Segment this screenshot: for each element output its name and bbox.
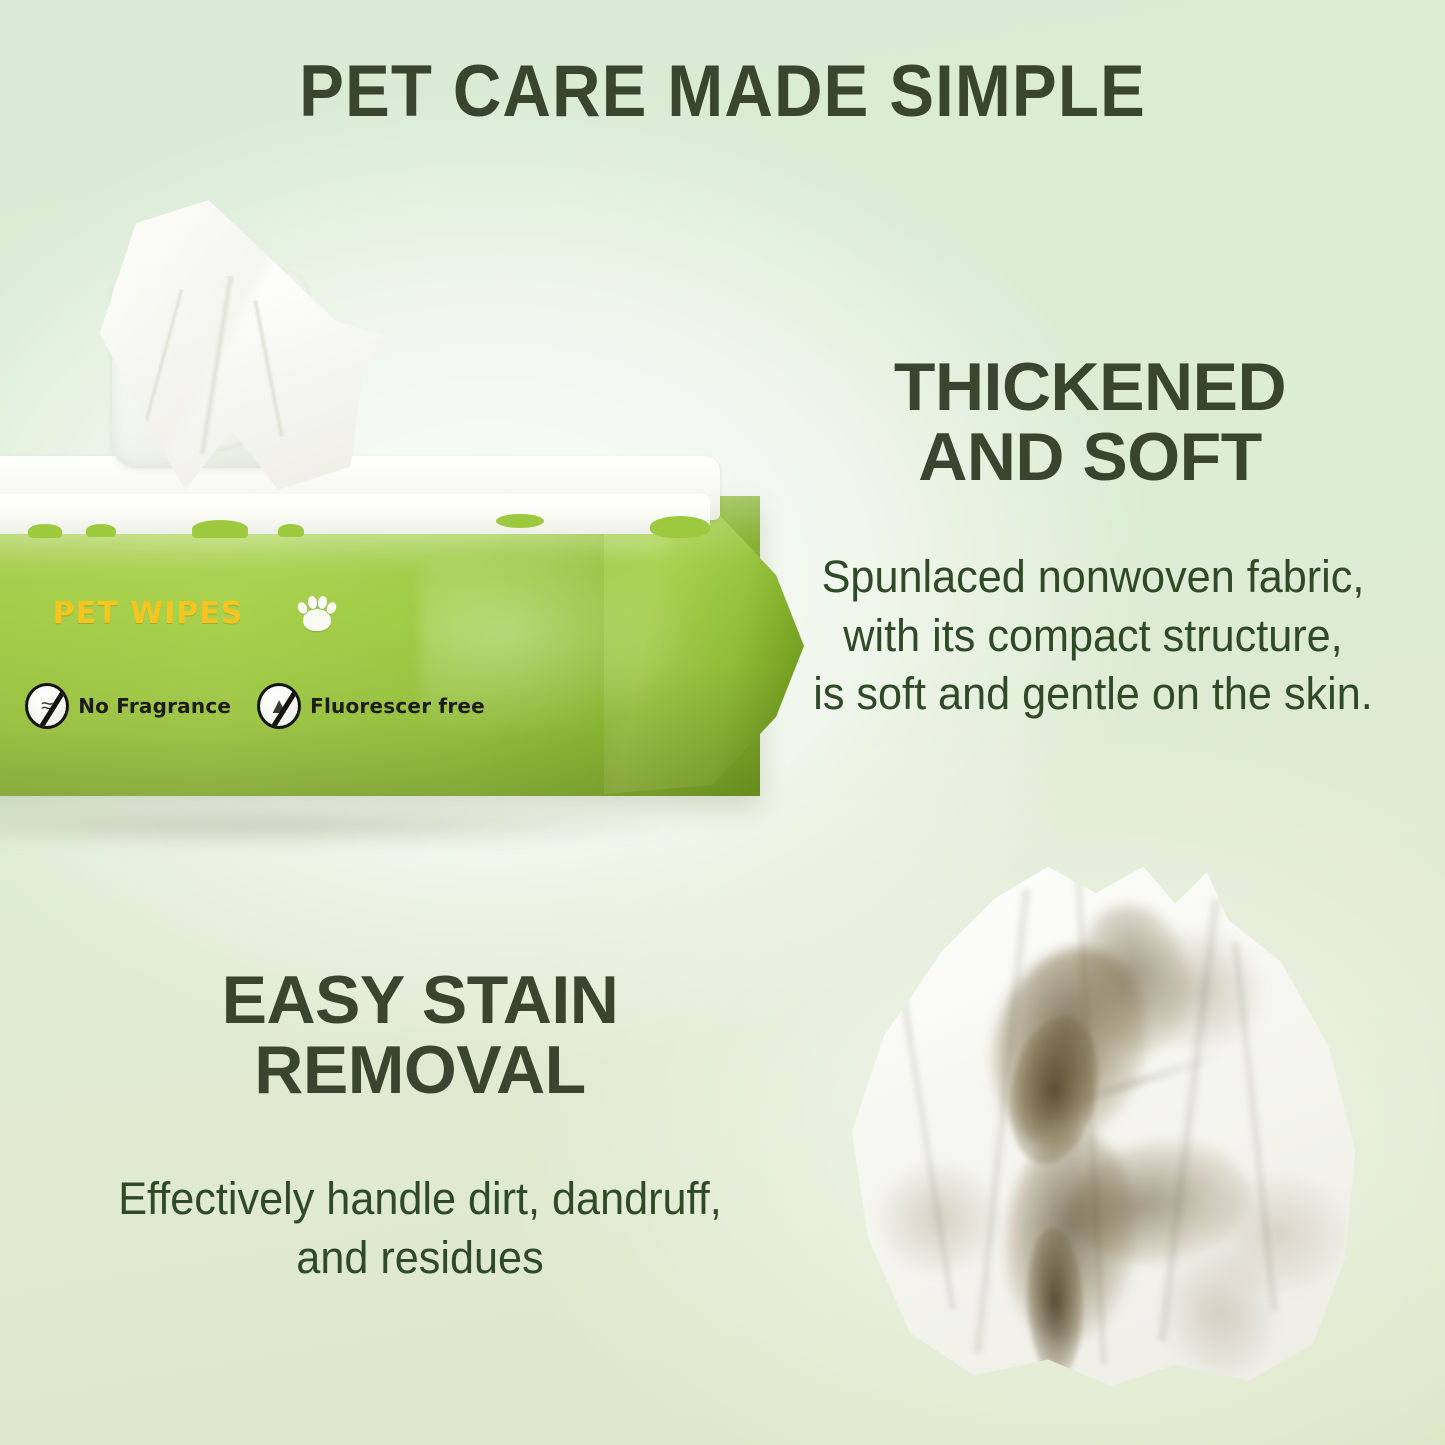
heading-line: EASY STAIN bbox=[60, 965, 780, 1035]
package-brand-row: PET WIPES bbox=[0, 588, 338, 638]
body-line: Spunlaced nonwoven fabric, bbox=[762, 548, 1424, 607]
feature-heading-easy-stain-removal: EASY STAIN REMOVAL bbox=[60, 965, 780, 1105]
package-badge-row: ⚗ No Alcohol ≈ No Fragrance ▲ Fluorescer… bbox=[0, 680, 524, 732]
fluorescer-free-icon: ▲ bbox=[257, 683, 301, 729]
body-line: Effectively handle dirt, dandruff, bbox=[55, 1170, 785, 1229]
badge-label: No Fragrance bbox=[78, 694, 231, 718]
badge-fluorescer-free: ▲ Fluorescer free bbox=[257, 683, 485, 729]
badge-label: Fluorescer free bbox=[310, 694, 485, 718]
product-infographic: PET CARE MADE SIMPLE PET WI bbox=[0, 0, 1445, 1445]
body-line: and residues bbox=[55, 1229, 785, 1288]
heading-line: REMOVAL bbox=[60, 1035, 780, 1105]
lid-notch bbox=[278, 524, 304, 537]
heading-line: THICKENED bbox=[760, 352, 1420, 422]
lid-notch bbox=[86, 524, 116, 537]
feature-heading-thickened-and-soft: THICKENED AND SOFT bbox=[760, 352, 1420, 492]
package-brand-text: PET WIPES bbox=[53, 596, 244, 631]
wipe-fold bbox=[251, 299, 284, 437]
paw-print-icon bbox=[296, 593, 338, 633]
lid-tab-oval bbox=[496, 514, 544, 528]
wipe-fold bbox=[198, 276, 235, 455]
body-line: is soft and gentle on the skin. bbox=[762, 665, 1424, 724]
lid-notch bbox=[28, 524, 62, 538]
package-shadow bbox=[0, 812, 680, 846]
feature-body-thickened-and-soft: Spunlaced nonwoven fabric, with its comp… bbox=[762, 548, 1424, 724]
dirt-stain bbox=[878, 1163, 998, 1273]
badge-no-fragrance: ≈ No Fragrance bbox=[25, 683, 231, 729]
pet-wipes-package: PET WIPES ⚗ No Alcohol ≈ No Fragrance bbox=[0, 440, 780, 840]
heading-line: AND SOFT bbox=[760, 422, 1420, 492]
no-fragrance-icon: ≈ bbox=[25, 683, 69, 729]
body-line: with its compact structure, bbox=[762, 607, 1424, 666]
lid-notch bbox=[192, 520, 248, 538]
dirty-wipe-photo bbox=[836, 856, 1366, 1386]
page-title: PET CARE MADE SIMPLE bbox=[58, 50, 1387, 133]
wipe-fold bbox=[140, 289, 185, 436]
used-wipe-cloth bbox=[836, 856, 1366, 1386]
lid-notch bbox=[650, 516, 710, 538]
feature-body-easy-stain-removal: Effectively handle dirt, dandruff, and r… bbox=[55, 1170, 785, 1287]
